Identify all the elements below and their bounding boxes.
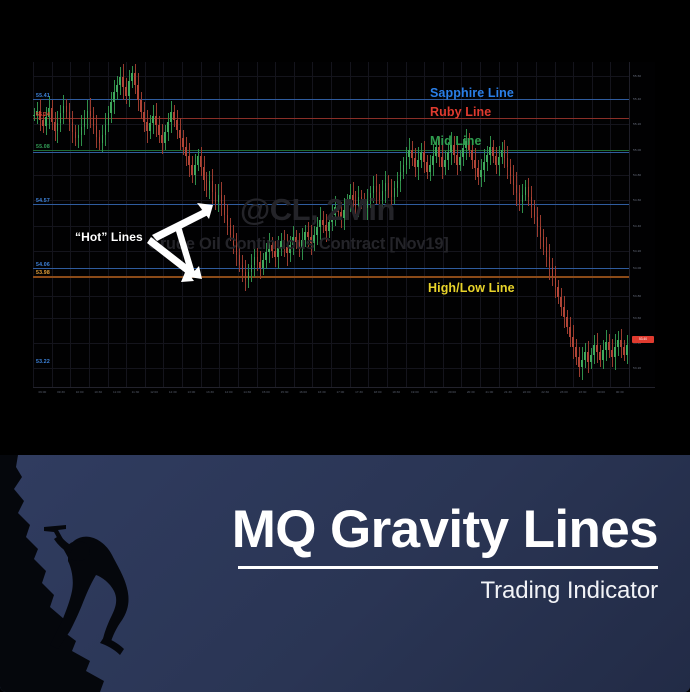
candle-body	[265, 252, 267, 260]
candle-body	[581, 360, 583, 368]
time-axis-tick: 20:00	[448, 390, 456, 394]
candle-body	[623, 347, 625, 355]
candle-body	[602, 350, 604, 360]
candle-body	[504, 150, 506, 159]
candle-body	[271, 245, 273, 251]
page-root: CL1! 2 min NYMEX O 53.88 H 53.91 L 53.85…	[0, 0, 690, 692]
candle-body	[486, 155, 488, 163]
candle-body	[566, 317, 568, 327]
candle-body	[617, 340, 619, 348]
time-axis-tick: 22:00	[523, 390, 531, 394]
candle-body	[474, 160, 476, 169]
candle-body	[328, 222, 330, 231]
chart-time-axis[interactable]: 09:0009:3010:0010:3011:0011:3012:0012:30…	[33, 387, 655, 399]
candle-body	[492, 147, 494, 156]
time-axis-tick: 13:00	[187, 390, 195, 394]
candle-body	[102, 135, 104, 144]
time-axis-tick: 12:00	[150, 390, 158, 394]
candle-body	[447, 152, 449, 160]
candle-body	[572, 337, 574, 347]
price-axis-tick: 55.20	[633, 122, 641, 126]
price-axis-tick: 54.80	[633, 173, 641, 177]
candle-body	[385, 183, 387, 191]
candle-body	[531, 197, 533, 207]
candle-body	[325, 225, 327, 231]
candle-body	[599, 352, 601, 360]
time-axis-tick: 15:30	[281, 390, 289, 394]
candle-body	[376, 186, 378, 192]
candle-body	[161, 135, 163, 144]
candle-body	[462, 148, 464, 157]
banner-subtitle: Trading Indicator	[232, 577, 658, 605]
candle-body	[593, 345, 595, 355]
candle-body	[477, 168, 479, 177]
candle-body	[441, 157, 443, 167]
candle-body	[391, 190, 393, 198]
candle-body	[242, 265, 244, 273]
price-axis-tick: 53.60	[633, 316, 641, 320]
candle-body	[125, 87, 127, 96]
candle-body	[137, 85, 139, 100]
candle-body	[245, 272, 247, 280]
candle-body	[93, 116, 95, 126]
candle-body	[382, 191, 384, 200]
time-axis-tick: 11:00	[113, 390, 121, 394]
time-axis-tick: 19:00	[411, 390, 419, 394]
candle-body	[63, 106, 65, 114]
candle-body	[459, 157, 461, 165]
candle-body	[388, 183, 390, 189]
time-axis-tick: 16:30	[318, 390, 326, 394]
candle-body	[456, 155, 458, 165]
candle-body	[230, 225, 232, 235]
candle-body	[403, 165, 405, 173]
annotation-ruby: Ruby Line	[430, 105, 491, 119]
time-axis-tick: 22:30	[541, 390, 549, 394]
annotation-mid: Mid Line	[430, 134, 482, 148]
candle-body	[212, 181, 214, 192]
candle-body	[167, 122, 169, 132]
candle-body	[221, 195, 223, 204]
banner-title: MQ Gravity Lines	[232, 503, 658, 557]
candle-body	[143, 112, 145, 122]
time-axis-tick: 11:30	[132, 390, 140, 394]
candle-body	[158, 125, 160, 135]
candle-body	[334, 207, 336, 215]
candle-body	[394, 188, 396, 197]
candle-body	[546, 247, 548, 257]
candle-body	[206, 180, 208, 190]
time-axis-tick: 13:30	[206, 390, 214, 394]
candle-body	[176, 120, 178, 130]
candle-body	[525, 187, 527, 195]
candle-body	[268, 245, 270, 253]
candle-body	[510, 167, 512, 176]
candle-body	[432, 156, 434, 165]
candle-body	[134, 73, 136, 84]
candle-body	[349, 195, 351, 203]
candle-body	[254, 257, 256, 265]
candle-body	[400, 172, 402, 181]
candle-body	[42, 120, 44, 126]
price-axis-tick: 54.60	[633, 198, 641, 202]
candle-body	[81, 127, 83, 135]
candle-body	[96, 126, 98, 137]
candle-body	[218, 195, 220, 203]
candle-body	[420, 152, 422, 160]
candle-body	[200, 156, 202, 167]
candle-body	[498, 157, 500, 165]
candle-body	[578, 357, 580, 367]
candle-body	[620, 340, 622, 348]
price-level-tag: 55.08	[35, 144, 51, 151]
candle-body	[233, 235, 235, 245]
time-axis-tick: 23:00	[560, 390, 568, 394]
time-axis-tick: 16:00	[299, 390, 307, 394]
candle-body	[614, 347, 616, 357]
candle-body	[483, 162, 485, 170]
candle-body	[301, 240, 303, 249]
candle-body	[116, 85, 118, 93]
candle-body	[274, 251, 276, 257]
candle-body	[555, 277, 557, 287]
time-axis-tick: 14:30	[243, 390, 251, 394]
candle-body	[119, 77, 121, 85]
candle-body	[340, 212, 342, 218]
chart-candles	[33, 62, 629, 387]
candle-body	[173, 112, 175, 120]
candle-body	[307, 232, 309, 237]
candle-body	[57, 123, 59, 131]
candle-body	[194, 165, 196, 175]
candle-body	[379, 192, 381, 200]
candle-body	[197, 156, 199, 165]
chart-panel: CL1! 2 min NYMEX O 53.88 H 53.91 L 53.85…	[0, 0, 690, 450]
time-axis-tick: 10:00	[76, 390, 84, 394]
time-axis-tick: 17:00	[336, 390, 344, 394]
candle-body	[128, 81, 130, 96]
time-axis-tick: 21:00	[485, 390, 493, 394]
candle-body	[140, 100, 142, 113]
candle-body	[426, 162, 428, 172]
candle-body	[352, 195, 354, 200]
candle-body	[373, 186, 375, 194]
candle-body	[540, 227, 542, 237]
candle-body	[185, 147, 187, 156]
chart-price-axis[interactable]: 55.6055.4055.2055.0054.8054.6054.4054.20…	[629, 62, 655, 387]
candle-body	[516, 185, 518, 194]
price-level-tag: 54.06	[35, 262, 51, 269]
price-level-tag: 55.24	[35, 112, 51, 119]
candle-body	[587, 352, 589, 362]
candle-body	[131, 73, 133, 81]
candle-body	[605, 342, 607, 350]
candle-body	[149, 123, 151, 131]
candle-body	[501, 150, 503, 158]
candle-body	[435, 147, 437, 156]
candle-body	[528, 187, 530, 197]
candle-body	[99, 137, 101, 143]
candle-body	[122, 77, 124, 87]
time-axis-tick: 10:30	[94, 390, 102, 394]
candle-body	[611, 350, 613, 358]
candle-body	[444, 160, 446, 168]
annotation-sapphire: Sapphire Line	[430, 86, 514, 100]
candle-body	[495, 156, 497, 165]
candle-body	[69, 112, 71, 122]
candle-body	[608, 342, 610, 350]
candle-body	[590, 355, 592, 363]
candle-body	[549, 257, 551, 267]
candle-body	[236, 245, 238, 255]
product-banner: MQ Gravity Lines Trading Indicator	[0, 455, 690, 692]
candle-body	[370, 193, 372, 201]
time-axis-tick: 18:30	[392, 390, 400, 394]
candle-body	[298, 242, 300, 248]
candle-body	[346, 202, 348, 210]
candle-body	[78, 135, 80, 139]
candle-body	[358, 197, 360, 206]
candle-body	[283, 241, 285, 247]
candle-body	[489, 147, 491, 155]
candle-body	[575, 347, 577, 357]
candle-body	[152, 116, 154, 124]
time-axis-tick: 14:00	[225, 390, 233, 394]
candle-body	[209, 181, 211, 190]
time-axis-tick: 09:00	[38, 390, 46, 394]
candle-body	[543, 237, 545, 247]
candle-body	[364, 202, 366, 208]
candle-body	[534, 207, 536, 217]
candle-body	[60, 113, 62, 123]
candle-body	[170, 112, 172, 122]
candle-body	[87, 111, 89, 119]
annotation-highlow: High/Low Line	[428, 281, 515, 295]
time-axis-tick: 09:30	[57, 390, 65, 394]
candle-body	[569, 327, 571, 337]
last-price-badge: 53.40	[632, 336, 654, 343]
candle-body	[227, 215, 229, 225]
candle-body	[584, 352, 586, 360]
candle-body	[75, 132, 77, 138]
candle-body	[66, 106, 68, 112]
time-axis-tick: 00:30	[616, 390, 624, 394]
candle-body	[552, 267, 554, 277]
candle-body	[513, 176, 515, 185]
candle-body	[343, 210, 345, 219]
candle-body	[289, 245, 291, 254]
candle-body	[411, 150, 413, 159]
candle-body	[408, 150, 410, 158]
price-level-tag: 54.57	[35, 198, 51, 205]
time-axis-tick: 18:00	[374, 390, 382, 394]
candle-body	[277, 248, 279, 257]
price-level-tag: 53.98	[35, 270, 51, 277]
candle-body	[557, 287, 559, 297]
candle-body	[108, 113, 110, 124]
candle-body	[355, 200, 357, 206]
price-axis-tick: 54.20	[633, 249, 641, 253]
candle-body	[90, 111, 92, 116]
time-axis-tick: 23:30	[579, 390, 587, 394]
price-axis-tick: 54.00	[633, 266, 641, 270]
candle-body	[292, 237, 294, 245]
candle-body	[110, 102, 112, 113]
candle-body	[215, 192, 217, 202]
candle-body	[522, 195, 524, 203]
candle-body	[414, 158, 416, 167]
candle-body	[248, 272, 250, 280]
candle-body	[155, 116, 157, 125]
candle-body	[259, 262, 261, 268]
candle-body	[361, 197, 363, 202]
candle-body	[417, 160, 419, 168]
candle-body	[519, 193, 521, 202]
candle-body	[188, 156, 190, 165]
chart-plot-area[interactable]: 55.6055.4055.2055.0054.8054.6054.4054.20…	[33, 62, 655, 387]
candle-body	[146, 122, 148, 131]
candle-body	[537, 217, 539, 227]
candle-body	[239, 255, 241, 265]
candle-body	[286, 247, 288, 253]
candle-body	[507, 158, 509, 167]
candle-body	[105, 125, 107, 135]
candle-body	[397, 181, 399, 189]
candle-body	[84, 118, 86, 127]
candle-body	[423, 152, 425, 162]
time-axis-tick: 00:00	[597, 390, 605, 394]
candle-body	[367, 201, 369, 209]
time-axis-tick: 17:30	[355, 390, 363, 394]
candle-body	[304, 232, 306, 240]
candle-body	[262, 260, 264, 269]
climber-silhouette-icon	[0, 455, 200, 692]
candle-body	[280, 241, 282, 249]
candle-body	[72, 122, 74, 132]
price-axis-tick: 54.40	[633, 224, 641, 228]
candle-body	[406, 157, 408, 165]
candle-body	[51, 108, 53, 122]
candle-body	[191, 165, 193, 175]
candle-body	[224, 203, 226, 214]
price-axis-tick: 53.80	[633, 294, 641, 298]
candle-body	[331, 215, 333, 223]
candle-body	[203, 167, 205, 180]
candle-body	[429, 165, 431, 173]
time-axis-tick: 21:30	[504, 390, 512, 394]
banner-text-block: MQ Gravity Lines Trading Indicator	[232, 503, 658, 605]
candle-body	[626, 345, 628, 355]
candle-body	[251, 265, 253, 273]
candle-body	[295, 237, 297, 242]
time-axis-tick: 12:30	[169, 390, 177, 394]
candle-body	[164, 132, 166, 143]
price-level-tag: 53.22	[35, 359, 51, 366]
banner-divider	[238, 566, 658, 569]
candle-body	[257, 257, 259, 262]
candle-body	[313, 235, 315, 244]
candle-body	[560, 297, 562, 307]
price-axis-tick: 55.60	[633, 74, 641, 78]
candle-body	[563, 307, 565, 317]
candle-body	[438, 147, 440, 157]
candle-body	[179, 130, 181, 139]
time-axis-tick: 19:30	[430, 390, 438, 394]
candle-body	[322, 220, 324, 225]
candle-body	[316, 227, 318, 235]
candle-body	[310, 237, 312, 243]
candle-body	[471, 150, 473, 160]
annotation-hot: “Hot” Lines	[75, 230, 143, 244]
price-axis-tick: 53.20	[633, 366, 641, 370]
time-axis-tick: 15:00	[262, 390, 270, 394]
candle-body	[182, 138, 184, 147]
candle-body	[113, 92, 115, 102]
candle-body	[480, 170, 482, 178]
price-level-tag: 55.41	[35, 93, 51, 100]
price-axis-tick: 55.40	[633, 97, 641, 101]
candle-body	[54, 122, 56, 131]
time-axis-tick: 20:30	[467, 390, 475, 394]
candle-body	[337, 207, 339, 212]
price-axis-tick: 55.00	[633, 148, 641, 152]
candle-body	[319, 220, 321, 228]
candle-body	[596, 345, 598, 353]
